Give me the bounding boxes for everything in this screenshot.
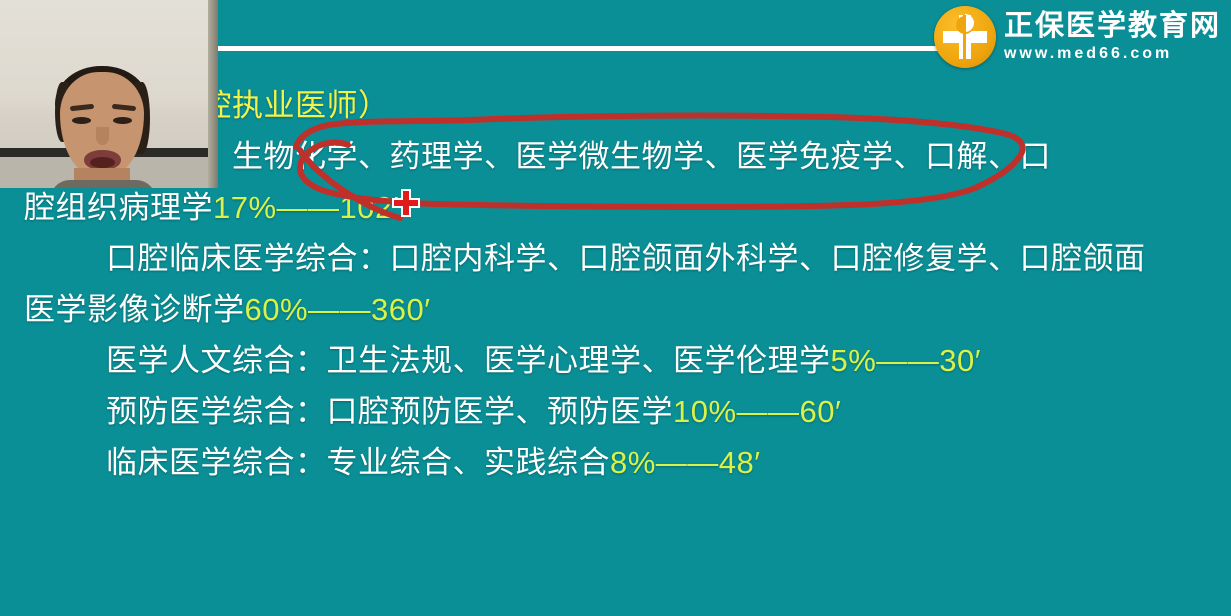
humanities-line: 医学人文综合：卫生法规、医学心理学、医学伦理学5%——30′: [0, 335, 1231, 386]
instructor-shirt: [50, 180, 156, 188]
brand-name: 正保医学教育网: [1004, 12, 1221, 41]
red-medical-cross-cursor[interactable]: [391, 188, 421, 218]
clinical-stomatology-line-2-seg-1: 60%——360′: [245, 292, 431, 327]
clinical-stomatology-line: 口腔临床医学综合：口腔内科学、口腔颌面外科学、口腔修复学、口腔颌面: [0, 233, 1231, 284]
brand-logo[interactable]: 正保医学教育网 www.med66.com: [934, 6, 1221, 68]
basic-medicine-line-2-seg-0: 腔组织病理学: [24, 190, 213, 225]
clinical-medicine-line-seg-1: 8%——48′: [610, 445, 761, 480]
instructor-webcam-overlay[interactable]: [0, 0, 218, 188]
preventive-line: 预防医学综合：口腔预防医学、预防医学10%——60′: [0, 386, 1231, 437]
slide-divider: [218, 46, 955, 51]
clinical-stomatology-line-2: 医学影像诊断学60%——360′: [0, 284, 1231, 335]
clinical-medicine-line: 临床医学综合：专业综合、实践综合8%——48′: [0, 437, 1231, 488]
medical-cross-circle-icon: [934, 6, 996, 68]
humanities-line-seg-0: 医学人文综合：卫生法规、医学心理学、医学伦理学: [106, 343, 831, 378]
preventive-line-seg-0: 预防医学综合：口腔预防医学、预防医学: [106, 394, 673, 429]
humanities-line-seg-1: 5%——30′: [831, 343, 982, 378]
lecture-video-frame: 记（口腔执业医师）学综合：生物化学、药理学、医学微生物学、医学免疫学、口解、口腔…: [0, 0, 1231, 616]
basic-medicine-line-2-seg-1: 17%——102′: [213, 190, 399, 225]
basic-medicine-line-2: 腔组织病理学17%——102′: [0, 182, 1231, 233]
webcam-overlay-edge: [208, 0, 218, 188]
clinical-stomatology-line-2-seg-0: 医学影像诊断学: [24, 292, 245, 327]
instructor-eye-right: [113, 117, 132, 124]
instructor-nose: [96, 127, 109, 145]
instructor-eye-left: [72, 117, 91, 124]
clinical-stomatology-line-seg-0: 口腔临床医学综合：口腔内科学、口腔颌面外科学、口腔修复学、口腔颌面: [106, 241, 1146, 276]
preventive-line-seg-1: 10%——60′: [673, 394, 841, 429]
clinical-medicine-line-seg-0: 临床医学综合：专业综合、实践综合: [106, 445, 610, 480]
basic-medicine-line-seg-0: 学综合：生物化学、药理学、医学微生物学、医学免疫学、口解、口: [106, 139, 1051, 174]
instructor-mouth-inner: [90, 157, 115, 168]
brand-text: 正保医学教育网 www.med66.com: [1004, 12, 1221, 62]
brand-url: www.med66.com: [1004, 46, 1221, 62]
